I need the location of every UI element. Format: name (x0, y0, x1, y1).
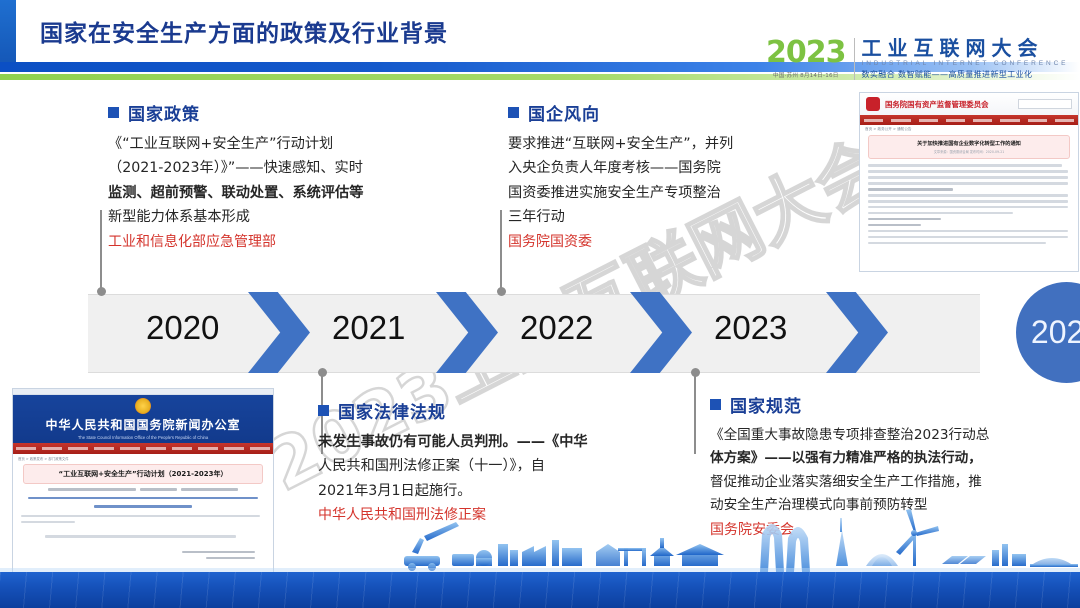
block-norms-line: 体方案》——以强有力精准严格的执法行动， (710, 447, 1080, 470)
block-policy-line: 新型能力体系基本形成 (108, 205, 508, 229)
logo-year-subtitle: 中国·苏州 8月14日-16日 (773, 71, 839, 79)
pin-dot-icon (97, 287, 106, 296)
nav-item[interactable] (1055, 119, 1074, 122)
timeline-year-2022[interactable]: 2022 (520, 309, 593, 347)
text-line (181, 488, 238, 491)
sasac-nav-bar[interactable] (860, 115, 1078, 125)
nav-item[interactable] (42, 447, 62, 450)
text-line (48, 488, 136, 491)
block-norms-body: 《全国重大事故隐患专项排查整治2023行动总 体方案》——以强有力精准严格的执法… (710, 424, 1080, 518)
timeline: 2020 2021 2022 2023 2024 (88, 294, 1080, 371)
block-soe-trend: 国企风向 要求推进“互联网+安全生产”，并列 入央企负责人年度考核——国务院 国… (508, 100, 848, 254)
block-laws-heading: 国家法律法规 (318, 398, 638, 423)
block-policy-line: 《“工业互联网+安全生产”行动计划 (108, 132, 508, 156)
block-policy-source: 工业和信息化部应急管理部 (108, 231, 508, 255)
scio-link-line[interactable] (28, 497, 257, 500)
logo-slogan: 数实融合 数智赋能——高质量推进新型工业化 (862, 69, 1069, 80)
text-line (868, 212, 1013, 215)
bullet-square-icon (108, 107, 119, 118)
nav-item[interactable] (146, 447, 166, 450)
sasac-article-meta: 文章来源：国资委综合局 发布时间：2020-09-21 (871, 149, 1067, 154)
block-soe-line: 入央企负责人年度考核——国务院 (508, 156, 848, 180)
text-line (868, 206, 1068, 209)
text-line (868, 242, 1046, 245)
scio-article-title: “工业互联网+安全生产”行动计划（2021-2023年） (26, 469, 260, 479)
nav-item[interactable] (946, 119, 965, 122)
text-line (868, 170, 1068, 173)
sasac-search-input[interactable] (1018, 99, 1072, 109)
sasac-article-title: 关于加快推进国有企业数字化转型工作的通知 (871, 140, 1067, 147)
scio-org-name-cn: 中华人民共和国国务院新闻办公室 (45, 416, 240, 433)
nav-item[interactable] (1028, 119, 1047, 122)
slide-root: 国家在安全生产方面的政策及行业背景 2023 中国·苏州 8月14日-16日 工… (0, 0, 1080, 608)
logo-main-title: 工业互联网大会 (862, 38, 1069, 59)
block-laws-body: 未发生事故仍有可能人员判刑。——《中华 人民共和国刑法修正案（十一）》，自 20… (318, 430, 638, 503)
screenshot-sasac[interactable]: 国务院国有资产监督管理委员会 首页 > 政务公开 > 通知公告 关于加快推进国有… (859, 92, 1079, 272)
header-left-accent-bar (0, 0, 16, 62)
nav-item[interactable] (973, 119, 992, 122)
block-soe-line: 三年行动 (508, 205, 848, 229)
sasac-body-lines (860, 161, 1078, 251)
pin-dot-icon (318, 368, 327, 377)
block-policy-body: 《“工业互联网+安全生产”行动计划 （2021-2023年）》”——快速感知、实… (108, 132, 508, 230)
block-norms-title: 国家规范 (730, 392, 802, 417)
timeline-year-2023[interactable]: 2023 (714, 309, 787, 347)
text-line (868, 194, 1068, 197)
scio-nav-bar[interactable] (13, 443, 273, 454)
logo-divider (854, 38, 855, 80)
bullet-square-icon (508, 107, 519, 118)
nav-item[interactable] (1000, 119, 1019, 122)
pin-dot-icon (497, 287, 506, 296)
text-line (868, 200, 1068, 203)
text-line (868, 236, 1068, 239)
block-soe-line: 国资委推进实施安全生产专项整治 (508, 181, 848, 205)
nav-item[interactable] (919, 119, 938, 122)
bullet-square-icon (318, 405, 329, 416)
nav-item[interactable] (172, 447, 192, 450)
block-soe-source: 国务院国资委 (508, 231, 848, 255)
logo-year-group: 2023 中国·苏州 8月14日-16日 (766, 38, 854, 79)
text-line (868, 188, 953, 191)
block-national-policy: 国家政策 《“工业互联网+安全生产”行动计划 （2021-2023年）》”——快… (108, 100, 508, 254)
logo-text-group: 工业互联网大会 INDUSTRIAL INTERNET CONFERENCE 数… (862, 38, 1069, 80)
timeline-year-2024-highlight[interactable]: 2024 (1016, 282, 1080, 383)
sasac-site-header: 国务院国有资产监督管理委员会 (860, 93, 1078, 115)
block-soe-body: 要求推进“互联网+安全生产”，并列 入央企负责人年度考核——国务院 国资委推进实… (508, 132, 848, 230)
block-policy-line: （2021-2023年）》”——快速感知、实时 (108, 156, 508, 180)
block-norms-heading: 国家规范 (710, 392, 1080, 417)
sasac-highlighted-title-box: 关于加快推进国有企业数字化转型工作的通知 文章来源：国资委综合局 发布时间：20… (868, 135, 1070, 159)
page-title: 国家在安全生产方面的政策及行业背景 (40, 14, 448, 48)
footer-blue-band (0, 572, 1080, 608)
timeline-year-2024-label: 2024 (1031, 314, 1080, 351)
nav-item[interactable] (120, 447, 140, 450)
city-skyline-illustration (0, 508, 1080, 574)
scio-site-header: 中华人民共和国国务院新闻办公室 The State Council Inform… (13, 395, 273, 443)
text-line (868, 224, 921, 227)
sasac-org-name: 国务院国有资产监督管理委员会 (885, 99, 988, 110)
text-line (140, 488, 176, 491)
pin-line-2023 (694, 372, 696, 454)
text-line (868, 164, 1062, 167)
bullet-square-icon (710, 399, 721, 410)
nav-item[interactable] (94, 447, 114, 450)
pin-line-2022 (500, 210, 502, 292)
scio-highlighted-title-box: “工业互联网+安全生产”行动计划（2021-2023年） (23, 464, 263, 484)
conference-logo: 2023 中国·苏州 8月14日-16日 工业互联网大会 INDUSTRIAL … (766, 38, 1072, 88)
scio-meta-row (13, 487, 273, 494)
nav-item[interactable] (68, 447, 88, 450)
scio-org-name-en: The State Council Information Office of … (78, 435, 208, 440)
block-laws-line: 人民共和国刑法修正案（十一）》，自 (318, 454, 638, 478)
block-laws-title: 国家法律法规 (338, 398, 446, 423)
timeline-year-2021[interactable]: 2021 (332, 309, 405, 347)
block-laws-line: 2021年3月1日起施行。 (318, 479, 638, 503)
nav-item[interactable] (16, 447, 36, 450)
nav-item[interactable] (198, 447, 218, 450)
block-norms-line: 督促推动企业落实落细安全生产工作措施，推 (710, 471, 1080, 494)
block-policy-heading: 国家政策 (108, 100, 508, 125)
national-emblem-icon (866, 97, 880, 111)
text-line (868, 176, 1068, 179)
block-soe-heading: 国企风向 (508, 100, 848, 125)
block-norms-line: 《全国重大事故隐患专项排查整治2023行动总 (710, 424, 1080, 447)
scio-breadcrumb: 首页 > 政策发布 > 部门政策文件 (13, 454, 273, 463)
block-laws-line: 未发生事故仍有可能人员判刑。——《中华 (318, 430, 638, 454)
block-soe-line: 要求推进“互联网+安全生产”，并列 (508, 132, 848, 156)
block-policy-title: 国家政策 (128, 100, 200, 125)
logo-year: 2023 (766, 38, 846, 68)
block-policy-line: 监测、超前预警、联动处置、系统评估等 (108, 181, 508, 205)
text-line (868, 182, 1068, 185)
timeline-year-2020[interactable]: 2020 (146, 309, 219, 347)
pin-line-2020 (100, 210, 102, 292)
text-line (868, 230, 1068, 233)
logo-english-title: INDUSTRIAL INTERNET CONFERENCE (862, 60, 1069, 67)
national-emblem-icon (135, 398, 151, 414)
pin-dot-icon (691, 368, 700, 377)
text-line (868, 218, 941, 221)
nav-item[interactable] (864, 119, 883, 122)
nav-item[interactable] (250, 447, 270, 450)
nav-item[interactable] (891, 119, 910, 122)
block-soe-title: 国企风向 (528, 100, 600, 125)
sasac-breadcrumb: 首页 > 政务公开 > 通知公告 (860, 125, 1078, 134)
nav-item[interactable] (224, 447, 244, 450)
